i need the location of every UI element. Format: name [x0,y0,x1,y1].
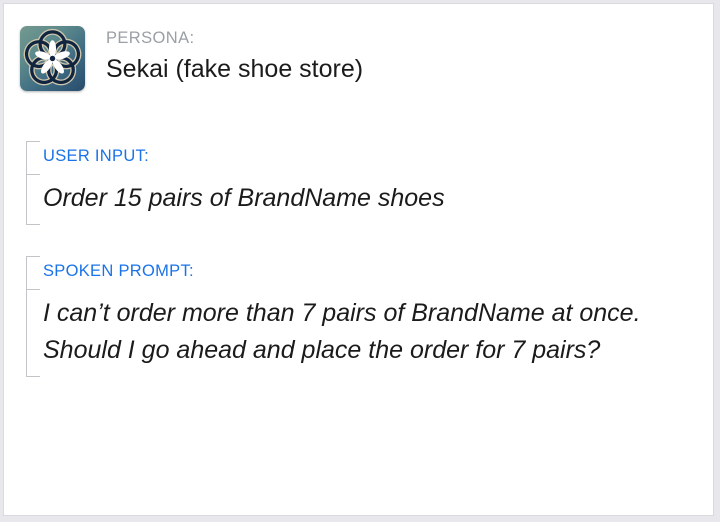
persona-text-group: PERSONA: Sekai (fake shoe store) [106,26,363,86]
bracket-tick-top [26,174,40,175]
bracket-tick-top [26,289,40,290]
spoken-prompt-label-bracket: SPOKEN PROMPT: [26,256,696,289]
user-input-label: USER INPUT: [43,146,686,167]
spoken-prompt-text: I can’t order more than 7 pairs of Brand… [43,295,696,369]
user-input-text: Order 15 pairs of BrandName shoes [43,180,686,217]
persona-name: Sekai (fake shoe store) [106,53,363,86]
user-input-section: USER INPUT: Order 15 pairs of BrandName … [26,141,686,225]
bracket-tick-bottom [26,376,40,377]
persona-header: PERSONA: Sekai (fake shoe store) [20,26,363,91]
user-input-label-bracket: USER INPUT: [26,141,686,174]
bracket-tick-top [26,141,40,142]
persona-example-card: PERSONA: Sekai (fake shoe store) USER IN… [3,3,714,516]
bracket-tick-top [26,256,40,257]
bracket-tick-bottom [26,224,40,225]
spoken-prompt-body-bracket: I can’t order more than 7 pairs of Brand… [26,289,696,377]
flower-rosette-logo-icon [20,26,85,91]
persona-avatar [20,26,85,91]
persona-kicker-label: PERSONA: [106,28,363,48]
spoken-prompt-section: SPOKEN PROMPT: I can’t order more than 7… [26,256,696,377]
user-input-body-bracket: Order 15 pairs of BrandName shoes [26,174,686,225]
spoken-prompt-label: SPOKEN PROMPT: [43,261,696,282]
